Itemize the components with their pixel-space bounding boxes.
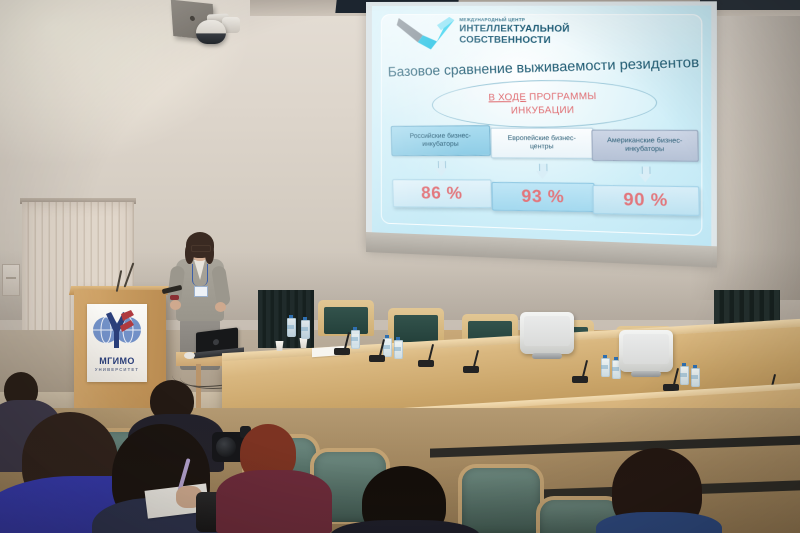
column-2-value: 93 %: [491, 182, 595, 212]
column-3-label: Американские бизнес-инкубаторы: [591, 130, 698, 162]
column-1-label: Российские бизнес-инкубаторы: [391, 125, 491, 156]
audience-chair: [462, 468, 540, 533]
mgimo-name: МГИМО: [87, 356, 147, 366]
presenter-lanyard: [192, 264, 208, 286]
mgimo-subtitle: УНИВЕРСИТЕТ: [87, 367, 147, 372]
callout-underlined: В ХОДЕ: [488, 91, 526, 103]
checkmark-v-icon: [397, 16, 458, 51]
callout-line-2: ИНКУБАЦИИ: [433, 103, 656, 117]
slide-column-3: Американские бизнес-инкубаторы 90 %: [591, 130, 699, 216]
slide-callout-oval: В ХОДЕ ПРОГРАММЫ ИНКУБАЦИИ: [431, 78, 657, 128]
conference-hall-photo: МЕЖДУНАРОДНЫЙ ЦЕНТР ИНТЕЛЛЕКТУАЛЬНОЙ СОБ…: [0, 0, 800, 533]
slide-column-2: Европейские бизнес-центры 93 %: [490, 128, 595, 212]
down-arrow-icon: [638, 167, 652, 183]
presenter-glasses: [191, 245, 211, 252]
wall-panel: [2, 264, 20, 296]
dome-camera-icon: [196, 20, 226, 44]
down-arrow-icon: [434, 161, 448, 176]
presenter-clicker: [170, 295, 179, 300]
presenter-badge: [194, 286, 208, 297]
presentation-slide: МЕЖДУНАРОДНЫЙ ЦЕНТР ИНТЕЛЛЕКТУАЛЬНОЙ СОБ…: [372, 6, 711, 247]
mgimo-logo: МГИМО УНИВЕРСИТЕТ: [87, 304, 147, 382]
projection-screen: МЕЖДУНАРОДНЫЙ ЦЕНТР ИНТЕЛЛЕКТУАЛЬНОЙ СОБ…: [366, 1, 717, 267]
panel-chair: [318, 300, 374, 336]
presenter-left-hand: [170, 300, 181, 310]
screen-surface: МЕЖДУНАРОДНЫЙ ЦЕНТР ИНТЕЛЛЕКТУАЛЬНОЙ СОБ…: [372, 6, 711, 247]
lectern-sign: МГИМО УНИВЕРСИТЕТ: [87, 304, 147, 382]
column-3-value: 90 %: [592, 185, 699, 216]
slide-column-1: Российские бизнес-инкубаторы 86 %: [391, 125, 493, 208]
column-2-label: Европейские бизнес-центры: [490, 128, 594, 159]
audience-body-burgundy: [216, 470, 332, 533]
presenter-right-hand: [215, 302, 226, 312]
mgimo-globe-icon: [87, 304, 147, 356]
org-logo-name: ИНТЕЛЛЕКТУАЛЬНОЙ СОБСТВЕННОСТИ: [459, 23, 569, 45]
column-1-value: 86 %: [392, 179, 492, 208]
callout-rest: ПРОГРАММЫ: [526, 90, 597, 102]
org-logo-line2: СОБСТВЕННОСТИ: [459, 33, 551, 45]
org-logo: МЕЖДУНАРОДНЫЙ ЦЕНТР ИНТЕЛЛЕКТУАЛЬНОЙ СОБ…: [397, 14, 551, 60]
down-arrow-icon: [535, 164, 549, 180]
callout-line-1: В ХОДЕ ПРОГРАММЫ: [433, 89, 656, 103]
audience-body: [596, 512, 722, 533]
